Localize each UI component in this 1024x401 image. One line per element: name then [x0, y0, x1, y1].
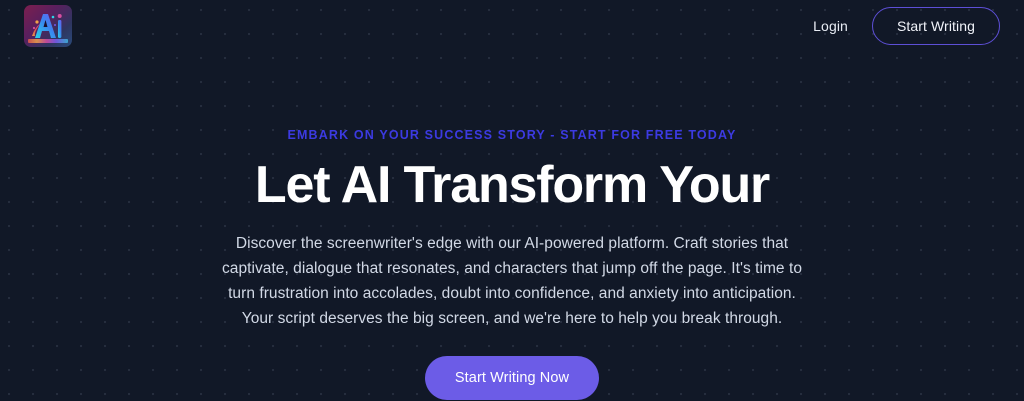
- page-title: Let AI Transform Your: [0, 157, 1024, 213]
- ai-logo[interactable]: [24, 5, 72, 47]
- hero-section: EMBARK ON YOUR SUCCESS STORY - START FOR…: [0, 128, 1024, 401]
- hero-cta-wrapper: Start Writing Now: [0, 356, 1024, 401]
- landing-page: Login Start Writing EMBARK ON YOUR SUCCE…: [0, 0, 1024, 401]
- header-actions: Login Start Writing: [813, 7, 1000, 45]
- logo-tagline: [28, 39, 68, 43]
- hero-eyebrow: EMBARK ON YOUR SUCCESS STORY - START FOR…: [0, 128, 1024, 143]
- login-link[interactable]: Login: [813, 19, 848, 33]
- start-writing-now-button[interactable]: Start Writing Now: [425, 356, 599, 401]
- start-writing-button[interactable]: Start Writing: [872, 7, 1000, 45]
- hero-description: Discover the screenwriter's edge with ou…: [212, 231, 812, 331]
- site-header: Login Start Writing: [0, 0, 1024, 52]
